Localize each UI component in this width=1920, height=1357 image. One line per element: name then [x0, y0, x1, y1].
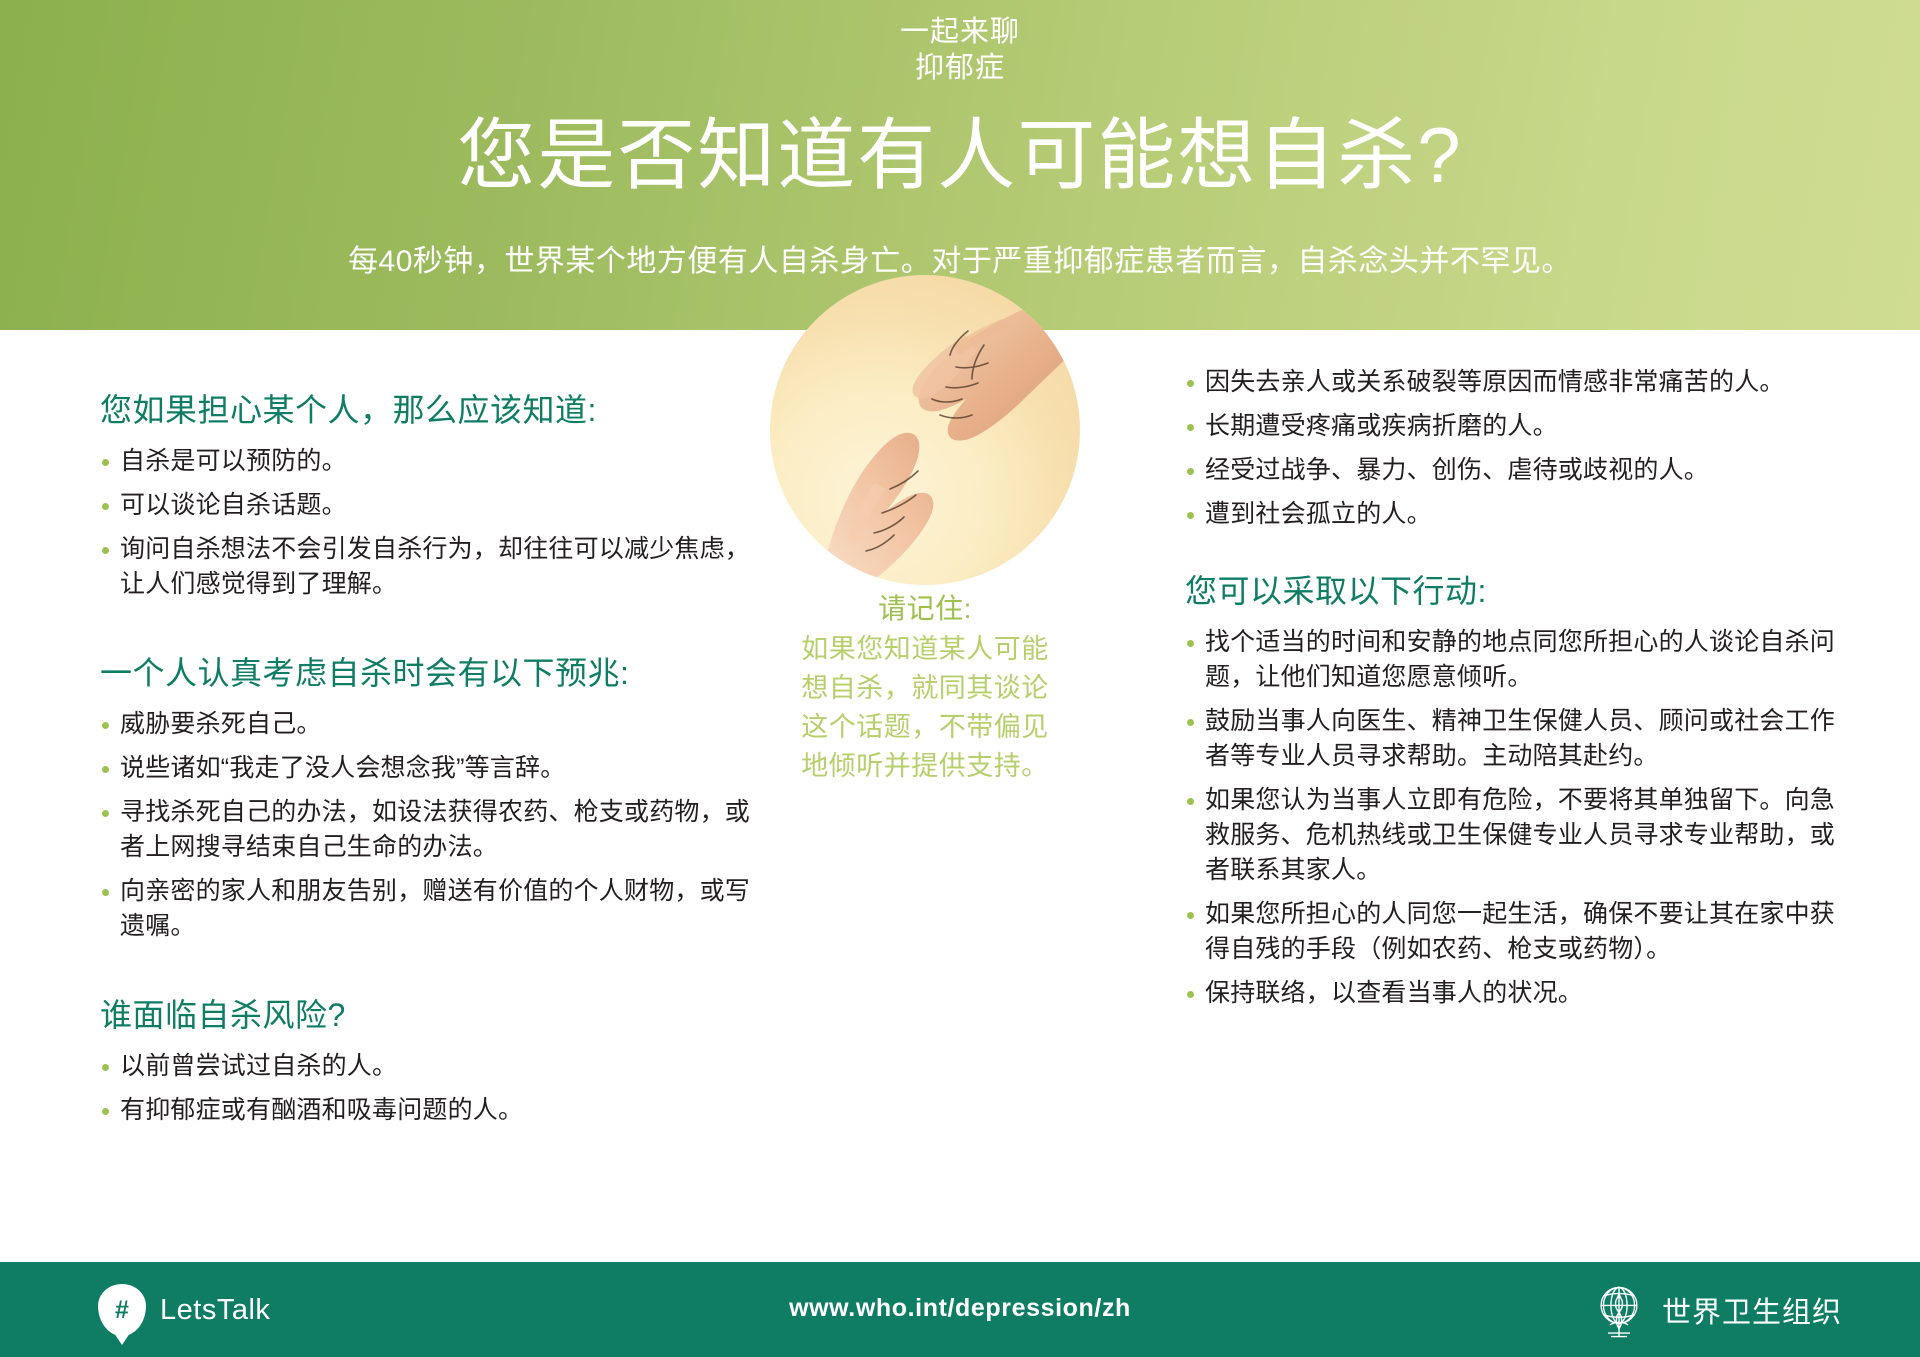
section-title-warning-signs: 一个人认真考虑自杀时会有以下预兆: — [100, 653, 750, 693]
content-area: 您如果担心某个人，那么应该知道: 自杀是可以预防的。 可以谈论自杀话题。 询问自… — [0, 330, 1920, 1260]
list-item: 如果您认为当事人立即有危险，不要将其单独留下。向急救服务、危机热线或卫生保健专业… — [1185, 783, 1855, 888]
section-title-who-at-risk: 谁面临自杀风险? — [100, 995, 750, 1035]
remember-line: 想自杀，就同其谈论 — [760, 669, 1090, 708]
remember-title: 请记住: — [760, 590, 1090, 628]
hands-illustration-circle — [770, 275, 1080, 585]
page-title: 您是否知道有人可能想自杀? — [0, 112, 1920, 198]
footer-bar: # LetsTalk www.who.int/depression/zh — [0, 1262, 1920, 1357]
list-item: 说些诸如“我走了没人会想念我”等言辞。 — [100, 751, 750, 786]
list-item: 找个适当的时间和安静的地点同您所担心的人谈论自杀问题，让他们知道您愿意倾听。 — [1185, 625, 1855, 695]
campaign-brand-line1: 一起来聊 — [0, 14, 1920, 50]
who-org-name: 世界卫生组织 — [1662, 1289, 1842, 1331]
list-item: 经受过战争、暴力、创伤、虐待或歧视的人。 — [1185, 453, 1855, 488]
list-item: 以前曾尝试过自杀的人。 — [100, 1049, 750, 1084]
bullet-list-actions: 找个适当的时间和安静的地点同您所担心的人谈论自杀问题，让他们知道您愿意倾听。 鼓… — [1185, 625, 1855, 1011]
spacer — [100, 611, 750, 653]
right-column: 因失去亲人或关系破裂等原因而情感非常痛苦的人。 长期遭受疼痛或疾病折磨的人。 经… — [1185, 365, 1855, 1020]
list-item: 寻找杀死自己的办法，如设法获得农药、枪支或药物，或者上网搜寻结束自己生命的办法。 — [100, 795, 750, 865]
bullet-list-warning-signs: 威胁要杀死自己。 说些诸如“我走了没人会想念我”等言辞。 寻找杀死自己的办法，如… — [100, 707, 750, 944]
who-logo-lockup: 世界卫生组织 — [1590, 1280, 1842, 1340]
who-emblem-icon — [1590, 1280, 1648, 1340]
list-item: 因失去亲人或关系破裂等原因而情感非常痛苦的人。 — [1185, 365, 1855, 400]
list-item: 遭到社会孤立的人。 — [1185, 497, 1855, 532]
infographic-poster: 一起来聊 抑郁症 您是否知道有人可能想自杀? 每40秒钟，世界某个地方便有人自杀… — [0, 0, 1920, 1357]
remember-body: 如果您知道某人可能 想自杀，就同其谈论 这个话题，不带偏见 地倾听并提供支持。 — [760, 630, 1090, 786]
left-column: 您如果担心某个人，那么应该知道: 自杀是可以预防的。 可以谈论自杀话题。 询问自… — [100, 390, 750, 1137]
campaign-brand: 一起来聊 抑郁症 — [0, 14, 1920, 86]
remember-line: 这个话题，不带偏见 — [760, 708, 1090, 747]
spacer — [1185, 541, 1855, 571]
bullet-list-who-at-risk: 以前曾尝试过自杀的人。 有抑郁症或有酗酒和吸毒问题的人。 — [100, 1049, 750, 1128]
remember-line: 如果您知道某人可能 — [760, 630, 1090, 669]
list-item: 保持联络，以查看当事人的状况。 — [1185, 976, 1855, 1011]
list-item: 威胁要杀死自己。 — [100, 707, 750, 742]
bullet-list-risk-groups: 因失去亲人或关系破裂等原因而情感非常痛苦的人。 长期遭受疼痛或疾病折磨的人。 经… — [1185, 365, 1855, 532]
section-title-concern: 您如果担心某个人，那么应该知道: — [100, 390, 750, 430]
spacer — [100, 953, 750, 995]
list-item: 向亲密的家人和朋友告别，赠送有价值的个人财物，或写遗嘱。 — [100, 874, 750, 944]
list-item: 长期遭受疼痛或疾病折磨的人。 — [1185, 409, 1855, 444]
list-item: 有抑郁症或有酗酒和吸毒问题的人。 — [100, 1093, 750, 1128]
list-item: 鼓励当事人向医生、精神卫生保健人员、顾问或社会工作者等专业人员寻求帮助。主动陪其… — [1185, 704, 1855, 774]
list-item: 可以谈论自杀话题。 — [100, 488, 750, 523]
remember-line: 地倾听并提供支持。 — [760, 747, 1090, 786]
section-title-actions: 您可以采取以下行动: — [1185, 571, 1855, 611]
list-item: 询问自杀想法不会引发自杀行为，却往往可以减少焦虑，让人们感觉得到了理解。 — [100, 532, 750, 602]
illustration-container — [770, 275, 1080, 585]
list-item: 如果您所担心的人同您一起生活，确保不要让其在家中获得自残的手段（例如农药、枪支或… — [1185, 897, 1855, 967]
list-item: 自杀是可以预防的。 — [100, 444, 750, 479]
campaign-brand-line2: 抑郁症 — [0, 50, 1920, 86]
bullet-list-concern: 自杀是可以预防的。 可以谈论自杀话题。 询问自杀想法不会引发自杀行为，却往往可以… — [100, 444, 750, 602]
two-hands-reaching-icon — [770, 275, 1080, 585]
remember-block: 请记住: 如果您知道某人可能 想自杀，就同其谈论 这个话题，不带偏见 地倾听并提… — [760, 590, 1090, 786]
